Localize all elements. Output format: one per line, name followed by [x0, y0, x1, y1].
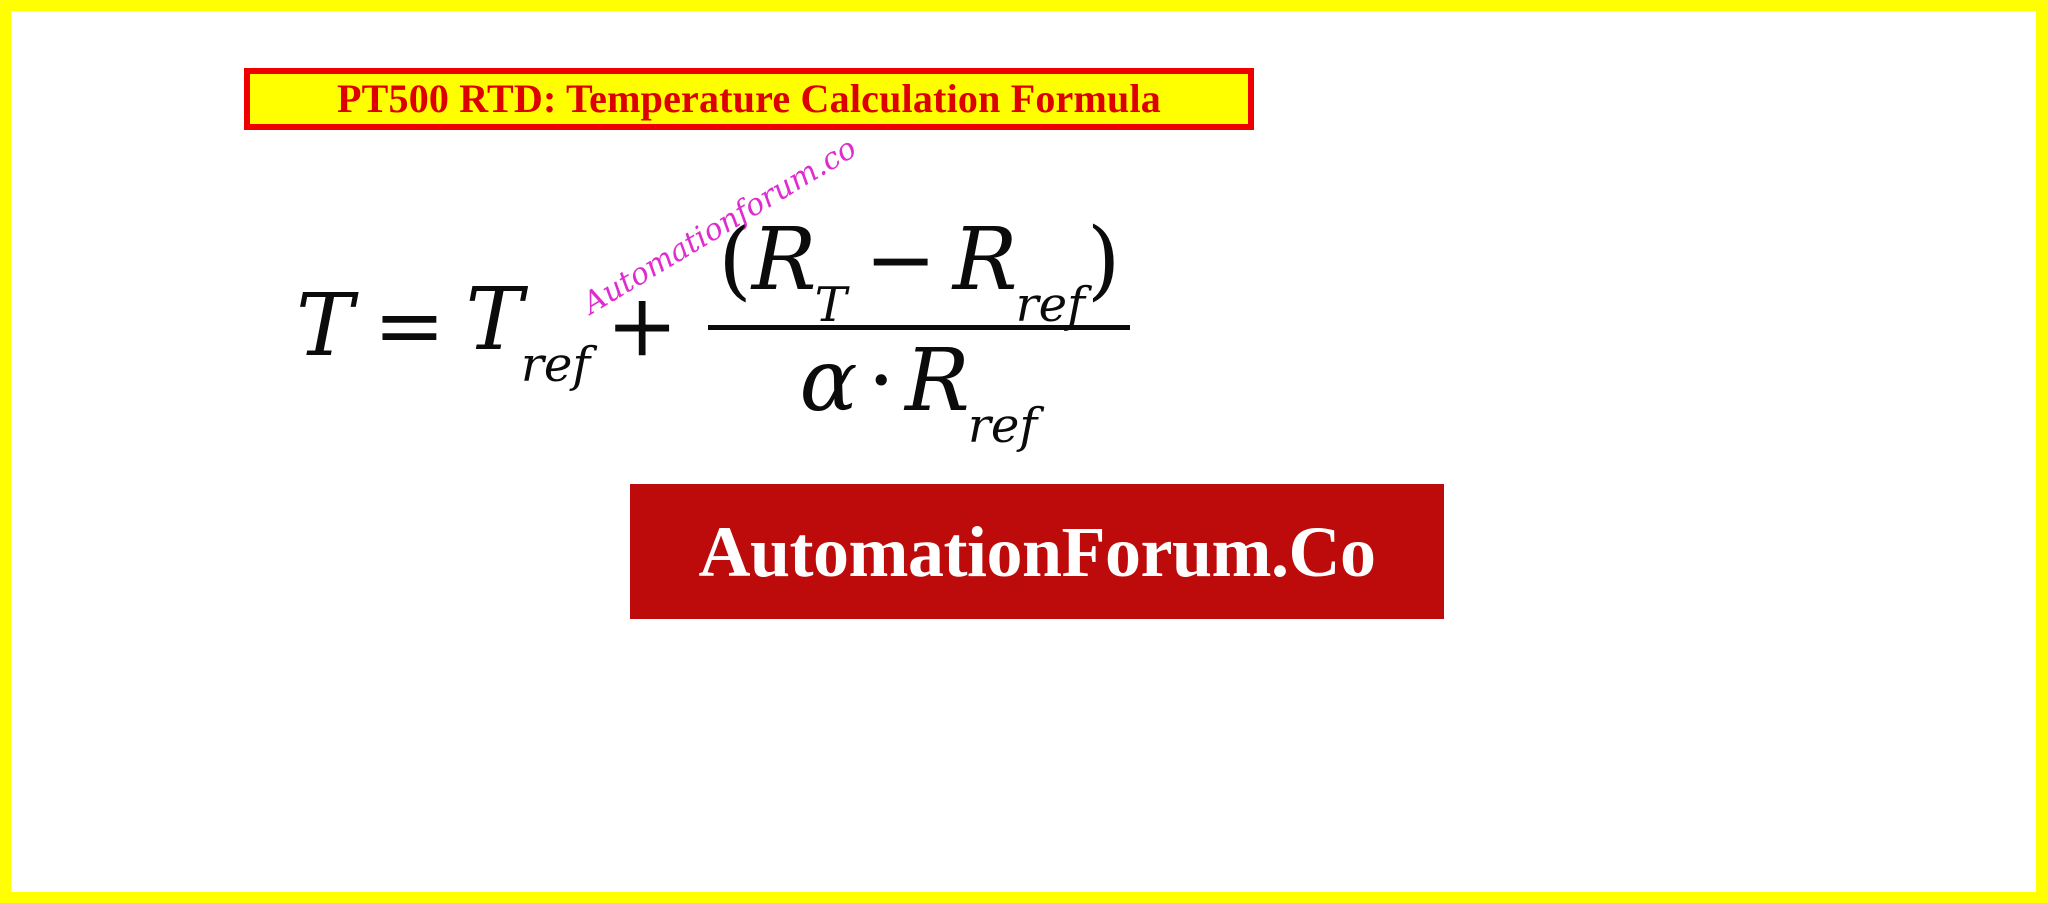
- formula-plus-sign: +: [606, 283, 678, 369]
- numerator-rref-subscript: ref: [1016, 277, 1085, 333]
- formula-term-tref-subscript: ref: [521, 337, 590, 393]
- numerator-close-paren: ): [1087, 210, 1121, 310]
- title-banner: PT500 RTD: Temperature Calculation Formu…: [244, 68, 1254, 130]
- denominator-dot-operator: ·: [868, 331, 895, 431]
- formula-term-tref-symbol: T: [465, 270, 522, 370]
- numerator-rt-subscript: T: [815, 277, 847, 333]
- formula-lhs-symbol: T: [296, 283, 353, 369]
- numerator-minus-sign: −: [865, 210, 937, 310]
- content-canvas: PT500 RTD: Temperature Calculation Formu…: [11, 11, 2036, 892]
- formula-fraction-numerator: (RT−Rref): [708, 213, 1130, 319]
- page-frame: PT500 RTD: Temperature Calculation Formu…: [0, 0, 2048, 903]
- numerator-rt-symbol: R: [752, 210, 817, 310]
- logo-banner: AutomationForum.Co: [630, 484, 1444, 619]
- formula-expression: T = Tref + (RT−Rref) α·Rref: [296, 213, 1130, 440]
- page-title: PT500 RTD: Temperature Calculation Formu…: [337, 79, 1161, 119]
- formula-fraction: (RT−Rref) α·Rref: [708, 213, 1130, 440]
- formula-term-tref: Tref: [465, 277, 592, 375]
- formula-fraction-denominator: α·Rref: [790, 334, 1050, 440]
- logo-text: AutomationForum.Co: [699, 516, 1376, 588]
- denominator-alpha-symbol: α: [800, 331, 858, 431]
- numerator-open-paren: (: [718, 210, 752, 310]
- formula-equals-sign: =: [373, 283, 445, 369]
- formula-block: T = Tref + (RT−Rref) α·Rref: [11, 186, 2036, 466]
- denominator-rref-subscript: ref: [968, 398, 1037, 454]
- numerator-rref-symbol: R: [953, 210, 1018, 310]
- denominator-rref-symbol: R: [905, 331, 970, 431]
